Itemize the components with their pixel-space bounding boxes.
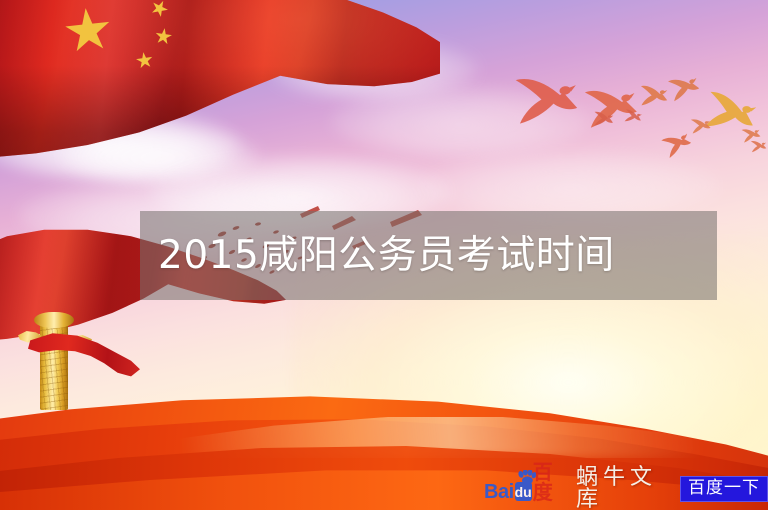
banner-image: 2015咸阳公务员考试时间 Bai du 百度 蜗牛文库 百度一下 — [0, 0, 768, 510]
site-name-watermark: 蜗牛文库 — [576, 467, 668, 510]
chinese-national-flag — [0, 0, 440, 166]
title-overlay-band: 2015咸阳公务员考试时间 — [140, 211, 717, 300]
baidu-du-badge: du — [515, 482, 532, 501]
page-title: 2015咸阳公务员考试时间 — [140, 236, 615, 275]
baidu-du-text: du — [515, 485, 532, 499]
flag-cloth — [0, 0, 440, 166]
watermark-bar: Bai du 百度 蜗牛文库 百度一下 — [484, 474, 768, 504]
baidu-latin-text: Bai — [484, 482, 514, 502]
baidu-chinese-text: 百度 — [533, 462, 562, 502]
cloud — [420, 150, 720, 220]
golden-huabiao-pillar — [34, 300, 74, 410]
baidu-logo[interactable]: Bai du 百度 — [484, 476, 562, 502]
baidu-search-button[interactable]: 百度一下 — [680, 476, 768, 502]
